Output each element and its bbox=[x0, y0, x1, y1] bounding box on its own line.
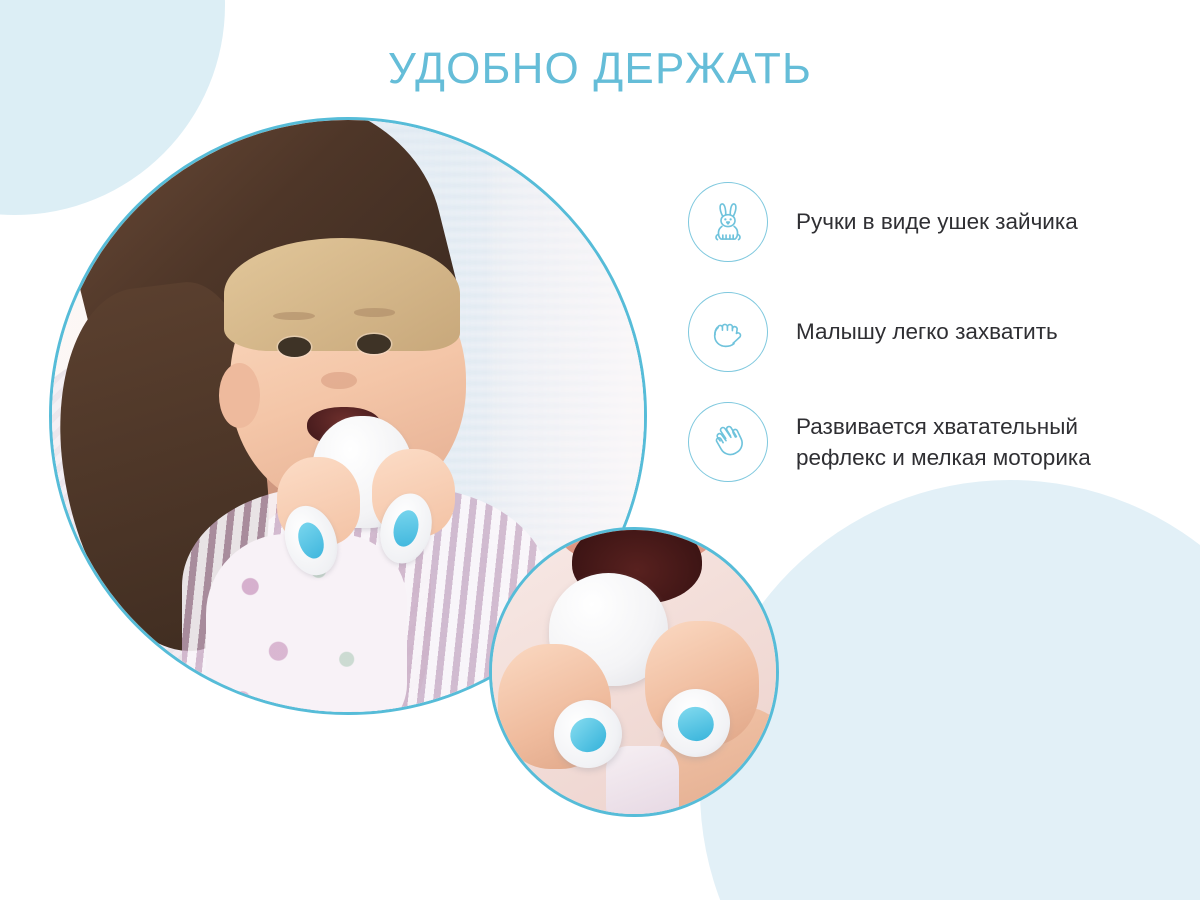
baby-eye-left bbox=[278, 337, 311, 357]
feature-list: Ручки в виде ушек зайчика Малышу легко з… bbox=[688, 182, 1168, 512]
detail-baby-bib bbox=[606, 746, 680, 817]
baby-hair bbox=[224, 238, 461, 350]
feature-label: Малышу легко захватить bbox=[796, 316, 1058, 347]
baby-ear bbox=[219, 363, 260, 428]
bunny-icon bbox=[688, 182, 768, 262]
photo-detail-image bbox=[492, 530, 776, 814]
baby-eyebrow-right bbox=[354, 308, 395, 316]
feature-label: Развивается хватательныйрефлекс и мелкая… bbox=[796, 411, 1091, 473]
feature-item-grasp-reflex: Развивается хватательныйрефлекс и мелкая… bbox=[688, 402, 1168, 482]
baby-eye-right bbox=[357, 334, 390, 354]
promo-slide: УДОБНО ДЕРЖАТЬ bbox=[0, 0, 1200, 900]
feature-item-easy-grip: Малышу легко захватить bbox=[688, 292, 1168, 372]
baby-nose bbox=[321, 372, 357, 390]
feature-item-bunny-handles: Ручки в виде ушек зайчика bbox=[688, 182, 1168, 262]
baby-eyebrow-left bbox=[273, 312, 314, 320]
page-title: УДОБНО ДЕРЖАТЬ bbox=[0, 44, 1200, 94]
open-hand-icon bbox=[688, 402, 768, 482]
photo-detail bbox=[489, 527, 779, 817]
feature-label: Ручки в виде ушек зайчика bbox=[796, 206, 1078, 237]
grabbing-hand-icon bbox=[688, 292, 768, 372]
